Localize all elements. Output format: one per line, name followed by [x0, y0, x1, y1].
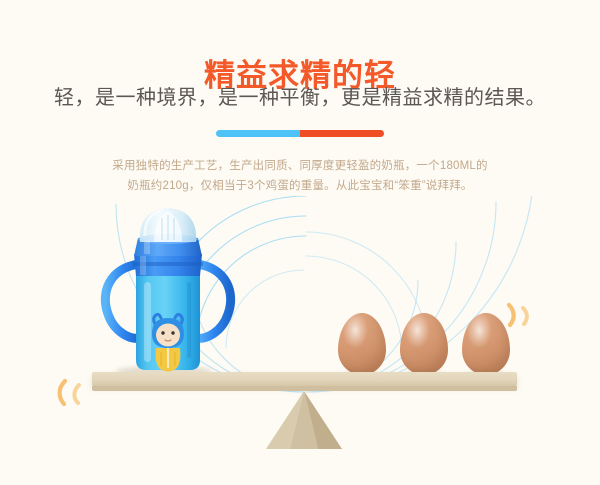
balance-scene — [0, 196, 600, 485]
divider-segment-orange — [300, 130, 384, 137]
balance-plank — [92, 372, 517, 386]
bottle-handle-left — [105, 264, 140, 338]
motion-crescent-left-icon — [56, 378, 90, 408]
divider-segment-blue — [216, 130, 300, 137]
page-subtitle: 轻，是一种境界，是一种平衡，更是精益求精的结果。 — [0, 86, 600, 110]
body-copy-line-1: 采用独特的生产工艺，生产出同质、同厚度更轻盈的奶瓶，一个180ML的 — [0, 156, 600, 176]
body-copy-line-2: 奶瓶约210g，仅相当于3个鸡蛋的重量。从此宝宝和“笨重”说拜拜。 — [0, 176, 600, 196]
baby-bottle-product — [92, 202, 244, 378]
mascot-graphic — [152, 314, 184, 371]
section-divider — [216, 130, 384, 137]
balance-plank-edge — [92, 386, 517, 391]
balance-fulcrum — [266, 391, 342, 449]
bottle-handle-right — [196, 264, 231, 338]
motion-crescent-right-icon — [498, 300, 532, 330]
body-copy: 采用独特的生产工艺，生产出同质、同厚度更轻盈的奶瓶，一个180ML的 奶瓶约21… — [0, 156, 600, 196]
promo-page: 精益求精的轻 轻，是一种境界，是一种平衡，更是精益求精的结果。 采用独特的生产工… — [0, 0, 600, 485]
